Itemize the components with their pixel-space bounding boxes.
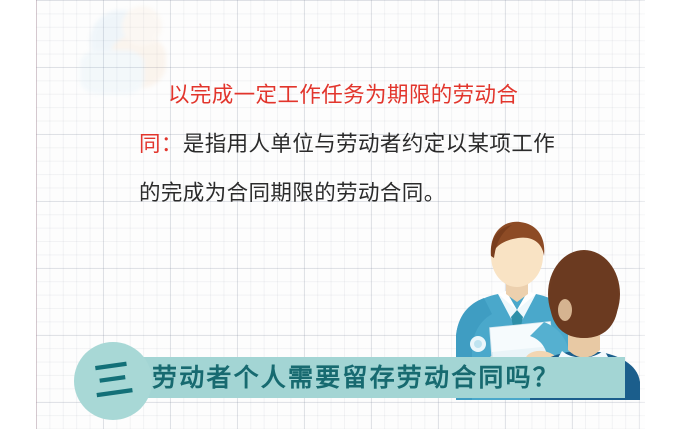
section-number-text: 三 bbox=[69, 337, 157, 425]
watermark-shape-c bbox=[80, 50, 144, 94]
definition-body: 是指用人单位与劳动者约定以某项工作的完成为合同期限的劳动合同。 bbox=[139, 132, 555, 206]
person2-hair bbox=[550, 252, 618, 338]
man-pocket-badge-inner bbox=[474, 340, 482, 348]
margin-rule-line bbox=[36, 0, 37, 429]
person2-ear-left bbox=[558, 299, 572, 321]
section-banner-title: 劳动者个人需要留存劳动合同吗？ bbox=[152, 357, 622, 398]
infographic-page: 以完成一定工作任务为期限的劳动合同：是指用人单位与劳动者约定以某项工作的完成为合… bbox=[0, 0, 679, 429]
